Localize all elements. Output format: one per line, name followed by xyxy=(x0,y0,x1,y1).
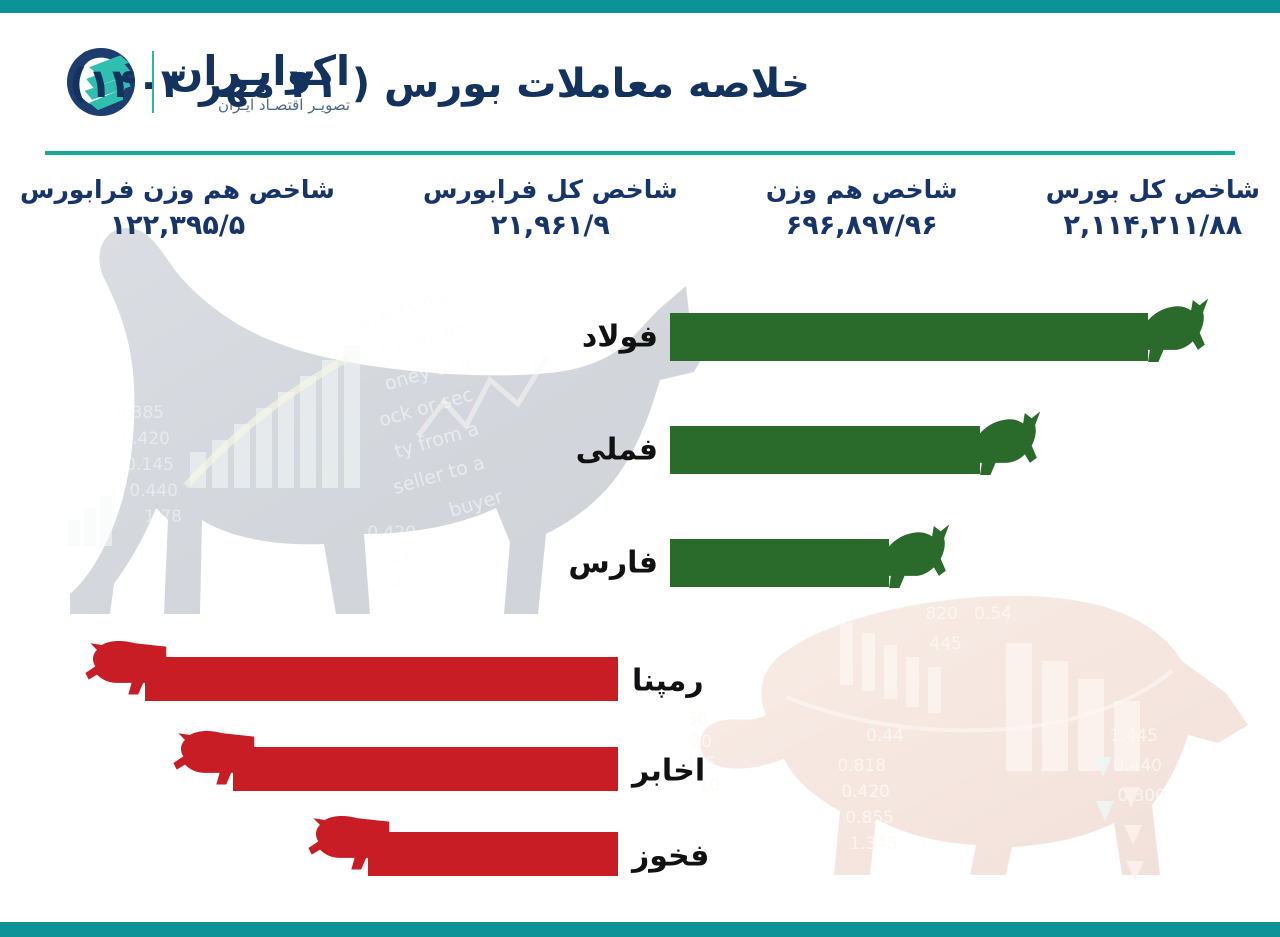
bar-positive xyxy=(670,426,980,474)
bear-icon xyxy=(83,640,167,706)
stat-total-index: شاخص کل بورس ۲,۱۱۴,۲۱۱/۸۸ xyxy=(1046,176,1260,241)
stat-value: ۲,۱۱۴,۲۱۱/۸۸ xyxy=(1046,210,1260,241)
bar-row-negative[interactable]: اخابر xyxy=(233,740,618,802)
bar-negative xyxy=(368,832,618,876)
page-header: اکوایـران تصویـر اقتصـاد ایـران خلاصه مع… xyxy=(0,13,1280,139)
bar-row-negative[interactable]: رمپنا xyxy=(145,650,618,712)
bull-icon xyxy=(956,401,1042,487)
stat-equal-weight-index: شاخص هم وزن ۶۹۶,۸۹۷/۹۶ xyxy=(766,176,958,241)
stat-farabourse-index: شاخص کل فرابورس ۲۱,۹۶۱/۹ xyxy=(423,176,678,241)
stat-value: ۲۱,۹۶۱/۹ xyxy=(423,210,678,241)
stat-label: شاخص کل فرابورس xyxy=(423,176,678,205)
stat-label: شاخص هم وزن فرابورس xyxy=(20,176,335,205)
bar-row-positive[interactable]: فولاد xyxy=(670,306,1148,368)
bear-icon xyxy=(306,815,390,881)
bar-label: فخوز xyxy=(632,839,709,874)
bar-row-positive[interactable]: فملی xyxy=(670,419,980,481)
infographic-page: 0.3850.420 0.1450.440 1.78 0.420245335 a… xyxy=(0,0,1280,937)
bar-label: فولاد xyxy=(582,320,658,355)
bar-label: اخابر xyxy=(632,754,705,789)
header-divider xyxy=(45,151,1235,155)
stat-value: ۱۲۲,۳۹۵/۵ xyxy=(20,210,335,241)
stat-label: شاخص هم وزن xyxy=(766,176,958,205)
bar-negative xyxy=(233,747,618,791)
bar-label: فملی xyxy=(576,433,658,468)
bar-positive xyxy=(670,539,889,587)
bull-icon xyxy=(1124,288,1210,374)
stat-value: ۶۹۶,۸۹۷/۹۶ xyxy=(766,210,958,241)
bar-row-positive[interactable]: فارس xyxy=(670,532,889,594)
bar-negative xyxy=(145,657,618,701)
bar-row-negative[interactable]: فخوز xyxy=(368,825,618,887)
bar-label: رمپنا xyxy=(632,664,704,699)
stat-farabourse-equal-weight-index: شاخص هم وزن فرابورس ۱۲۲,۳۹۵/۵ xyxy=(20,176,335,241)
bull-icon xyxy=(865,514,951,600)
impact-bar-chart: فولاد فملی فارس رمپنا xyxy=(0,250,1280,910)
bear-icon xyxy=(171,730,255,796)
top-accent-band xyxy=(0,0,1280,13)
index-stats-row: شاخص کل بورس ۲,۱۱۴,۲۱۱/۸۸ شاخص هم وزن ۶۹… xyxy=(20,176,1260,250)
bottom-accent-band xyxy=(0,922,1280,937)
page-title: خلاصه معاملات بورس ( ۲۱ مهر ۱۴۰۳) xyxy=(69,61,810,107)
stat-label: شاخص کل بورس xyxy=(1046,176,1260,205)
bar-label: فارس xyxy=(568,546,658,581)
bar-positive xyxy=(670,313,1148,361)
